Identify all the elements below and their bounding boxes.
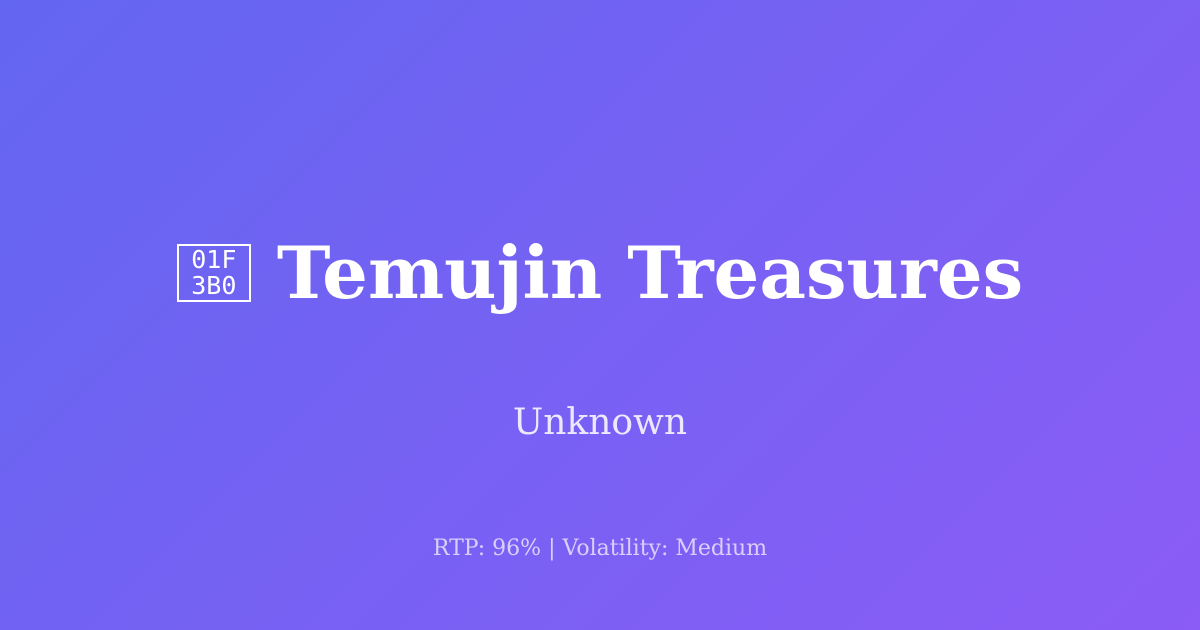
title-row: 01F 3B0 Temujin Treasures	[0, 189, 1200, 357]
page-title: Temujin Treasures	[277, 237, 1023, 309]
game-stats-line: RTP: 96% | Volatility: Medium	[0, 538, 1200, 560]
og-card: 01F 3B0 Temujin Treasures Unknown RTP: 9…	[0, 0, 1200, 630]
tofu-codepoint-line-2: 3B0	[191, 273, 236, 299]
slot-machine-icon: 01F 3B0	[177, 244, 251, 302]
tofu-codepoint-line-1: 01F	[191, 247, 236, 273]
provider-name: Unknown	[513, 405, 687, 441]
